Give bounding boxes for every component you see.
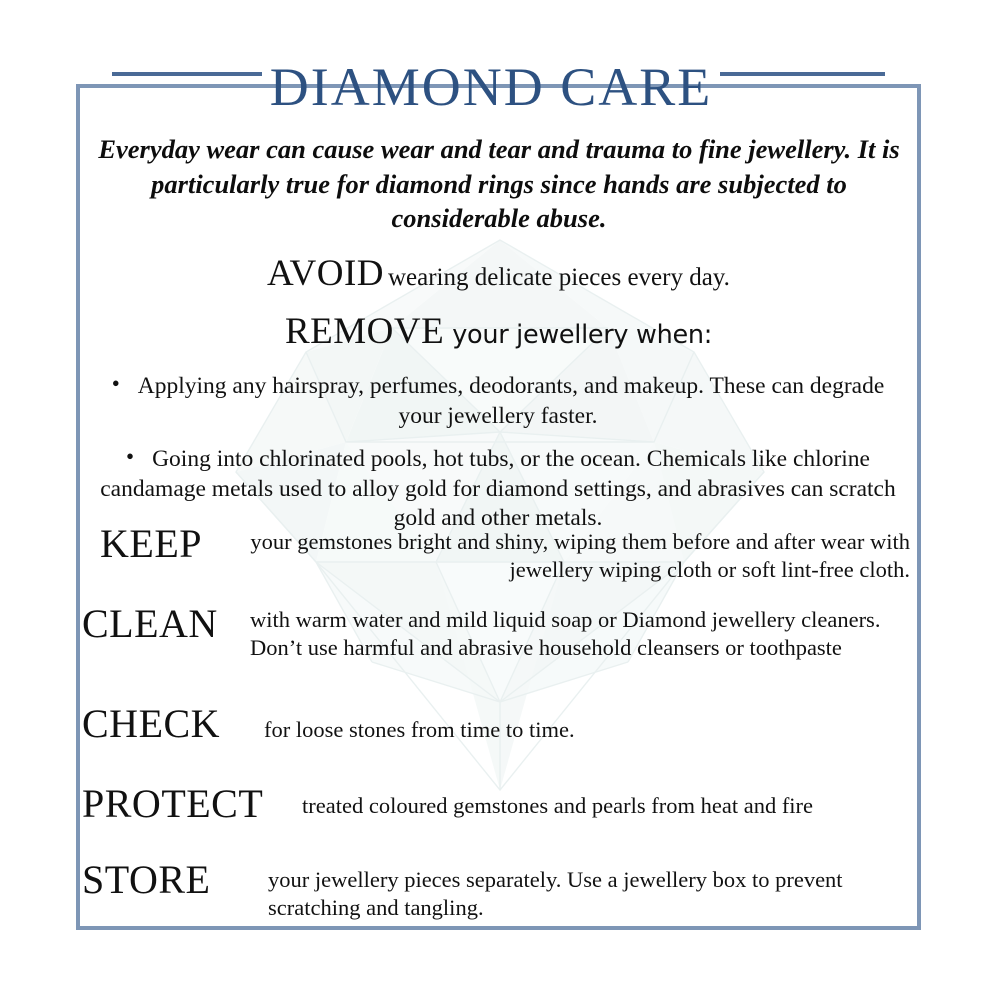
check-body: for loose stones from time to time.: [254, 704, 882, 744]
clean-keyword: CLEAN: [82, 604, 250, 644]
title-rule-left: [112, 72, 262, 76]
check-keyword: CHECK: [82, 704, 254, 744]
protect-body: treated coloured gemstones and pearls fr…: [294, 784, 882, 820]
list-item: •Applying any hairspray, perfumes, deodo…: [88, 370, 908, 431]
avoid-keyword: AVOID: [267, 253, 384, 294]
store-body: your jewellery pieces separately. Use a …: [258, 860, 892, 922]
protect-keyword: PROTECT: [82, 784, 294, 824]
intro-paragraph: Everyday wear can cause wear and tear an…: [94, 132, 904, 236]
section-protect: PROTECT treated coloured gemstones and p…: [82, 784, 882, 824]
section-check: CHECK for loose stones from time to time…: [82, 704, 882, 744]
avoid-body: wearing delicate pieces every day.: [388, 264, 730, 291]
bullet-text: Going into chlorinated pools, hot tubs, …: [100, 446, 896, 531]
section-clean: CLEAN with warm water and mild liquid so…: [82, 604, 912, 662]
remove-bullet-list: •Applying any hairspray, perfumes, deodo…: [88, 370, 908, 546]
keep-keyword: KEEP: [100, 524, 232, 564]
store-keyword: STORE: [82, 860, 258, 900]
poster-content: DIAMOND CARE Everyday wear can cause wea…: [76, 84, 921, 930]
bullet-marker: •: [126, 443, 134, 472]
page-title: DIAMOND CARE: [270, 60, 713, 114]
remove-line: REMOVE your jewellery when:: [76, 310, 921, 353]
title-rule-right: [720, 72, 885, 76]
section-keep: KEEP your gemstones bright and shiny, wi…: [100, 524, 910, 584]
remove-keyword: REMOVE: [285, 311, 444, 352]
bullet-text: Applying any hairspray, perfumes, deodor…: [138, 373, 885, 429]
keep-body: your gemstones bright and shiny, wiping …: [232, 524, 910, 584]
list-item: •Going into chlorinated pools, hot tubs,…: [88, 443, 908, 534]
diamond-care-poster: DIAMOND CARE Everyday wear can cause wea…: [0, 0, 1000, 1000]
remove-body: your jewellery when:: [452, 320, 712, 350]
section-store: STORE your jewellery pieces separately. …: [82, 860, 892, 922]
title-row: DIAMOND CARE: [76, 51, 921, 123]
avoid-line: AVOID wearing delicate pieces every day.: [76, 252, 921, 295]
bullet-marker: •: [112, 370, 120, 399]
clean-body: with warm water and mild liquid soap or …: [250, 604, 912, 662]
